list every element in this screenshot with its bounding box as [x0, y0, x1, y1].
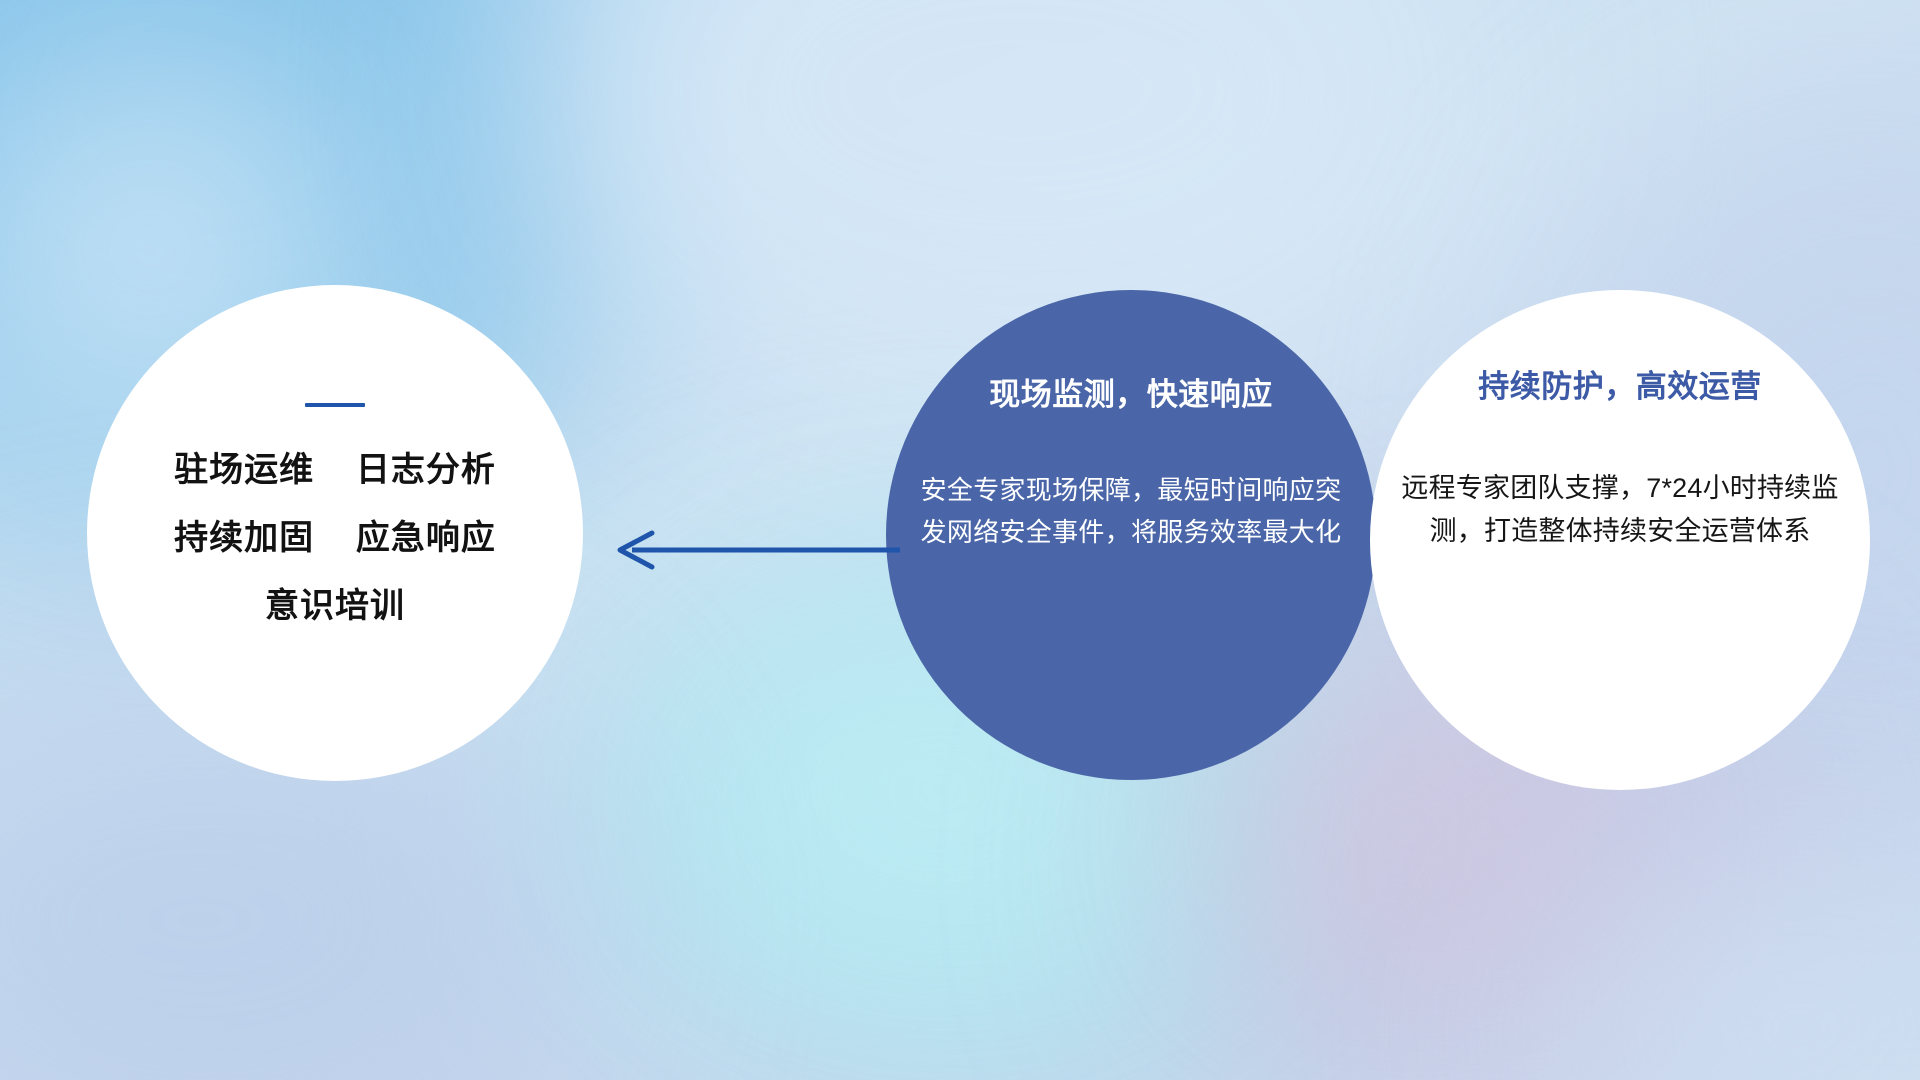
service-line-2: 持续加固 应急响应: [87, 521, 583, 555]
continuous-protection-body: 远程专家团队支撑，7*24小时持续监测，打造整体持续安全运营体系: [1394, 467, 1846, 553]
continuous-protection-circle[interactable]: 持续防护，高效运营 远程专家团队支撑，7*24小时持续监测，打造整体持续安全运营…: [1370, 290, 1870, 790]
flow-arrow-left-icon: [600, 500, 900, 600]
continuous-protection-content: 持续防护，高效运营 远程专家团队支撑，7*24小时持续监测，打造整体持续安全运营…: [1394, 368, 1846, 554]
divider-line: [305, 403, 365, 407]
services-content: 驻场运维 日志分析 持续加固 应急响应 意识培训: [87, 403, 583, 623]
continuous-protection-title: 持续防护，高效运营: [1394, 368, 1846, 405]
onsite-monitoring-body: 安全专家现场保障，最短时间响应突发网络安全事件，将服务效率最大化: [912, 469, 1350, 553]
service-line-3: 意识培训: [87, 589, 583, 623]
service-line-1: 驻场运维 日志分析: [87, 453, 583, 487]
onsite-monitoring-title: 现场监测，快速响应: [912, 376, 1350, 413]
onsite-monitoring-content: 现场监测，快速响应 安全专家现场保障，最短时间响应突发网络安全事件，将服务效率最…: [912, 376, 1350, 553]
slide-canvas: 驻场运维 日志分析 持续加固 应急响应 意识培训 现场监测，快速响应 安全专家现…: [0, 0, 1920, 1080]
services-circle[interactable]: 驻场运维 日志分析 持续加固 应急响应 意识培训: [87, 285, 583, 781]
onsite-monitoring-circle[interactable]: 现场监测，快速响应 安全专家现场保障，最短时间响应突发网络安全事件，将服务效率最…: [886, 290, 1376, 780]
